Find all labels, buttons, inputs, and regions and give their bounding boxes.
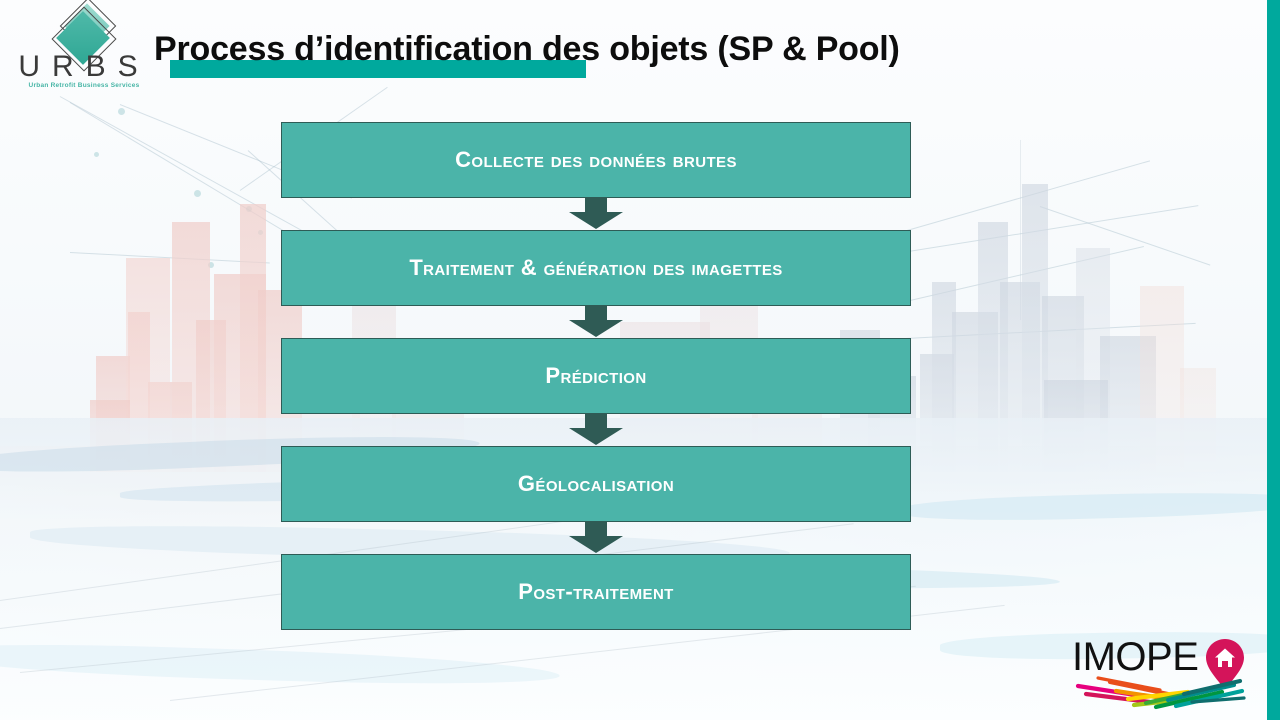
right-edge-accent-bar — [1267, 0, 1280, 720]
imope-logo: IMOPE — [1072, 636, 1250, 714]
flow-arrow-3 — [281, 414, 911, 446]
imope-swoosh-graphic — [1072, 672, 1248, 712]
urbs-logo: URBS Urban Retrofit Business Services — [14, 2, 154, 98]
page-title-text: Process d’identification des objets (SP … — [154, 26, 900, 72]
flow-step-2[interactable]: Traitement & génération des imagettes — [281, 230, 911, 306]
process-flow: Collecte des données brutes Traitement &… — [281, 122, 911, 630]
urbs-wordmark: URBS — [14, 50, 154, 84]
flow-arrow-4 — [281, 522, 911, 554]
flow-step-1[interactable]: Collecte des données brutes — [281, 122, 911, 198]
slide-canvas: URBS Urban Retrofit Business Services Pr… — [0, 0, 1280, 720]
flow-step-3[interactable]: Prédiction — [281, 338, 911, 414]
flow-step-4[interactable]: Géolocalisation — [281, 446, 911, 522]
flow-arrow-1 — [281, 198, 911, 230]
flow-step-5[interactable]: Post-traitement — [281, 554, 911, 630]
flow-step-2-label: Traitement & génération des imagettes — [409, 257, 782, 279]
flow-step-5-label: Post-traitement — [518, 581, 674, 603]
page-title: Process d’identification des objets (SP … — [154, 26, 900, 76]
flow-step-1-label: Collecte des données brutes — [455, 149, 737, 171]
urbs-tagline: Urban Retrofit Business Services — [14, 82, 154, 89]
flow-step-4-label: Géolocalisation — [518, 473, 674, 495]
flow-arrow-2 — [281, 306, 911, 338]
flow-step-3-label: Prédiction — [545, 365, 646, 387]
